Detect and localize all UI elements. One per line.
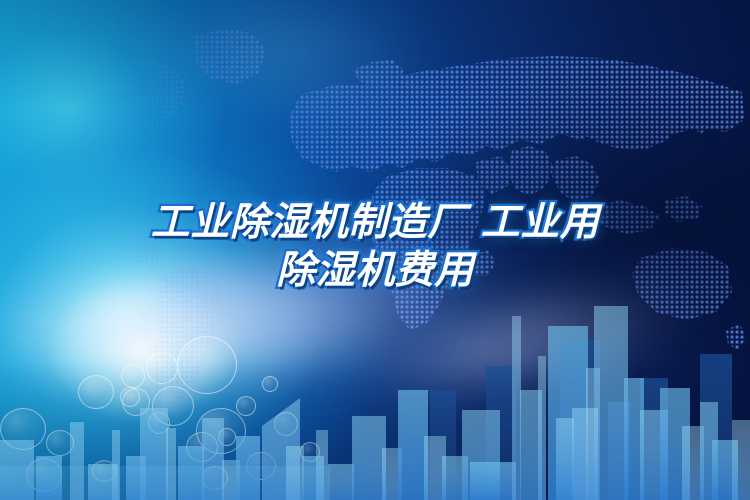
city-skyline	[0, 270, 750, 500]
promo-banner: 工业除湿机制造厂 工业用 除湿机费用	[0, 0, 750, 500]
